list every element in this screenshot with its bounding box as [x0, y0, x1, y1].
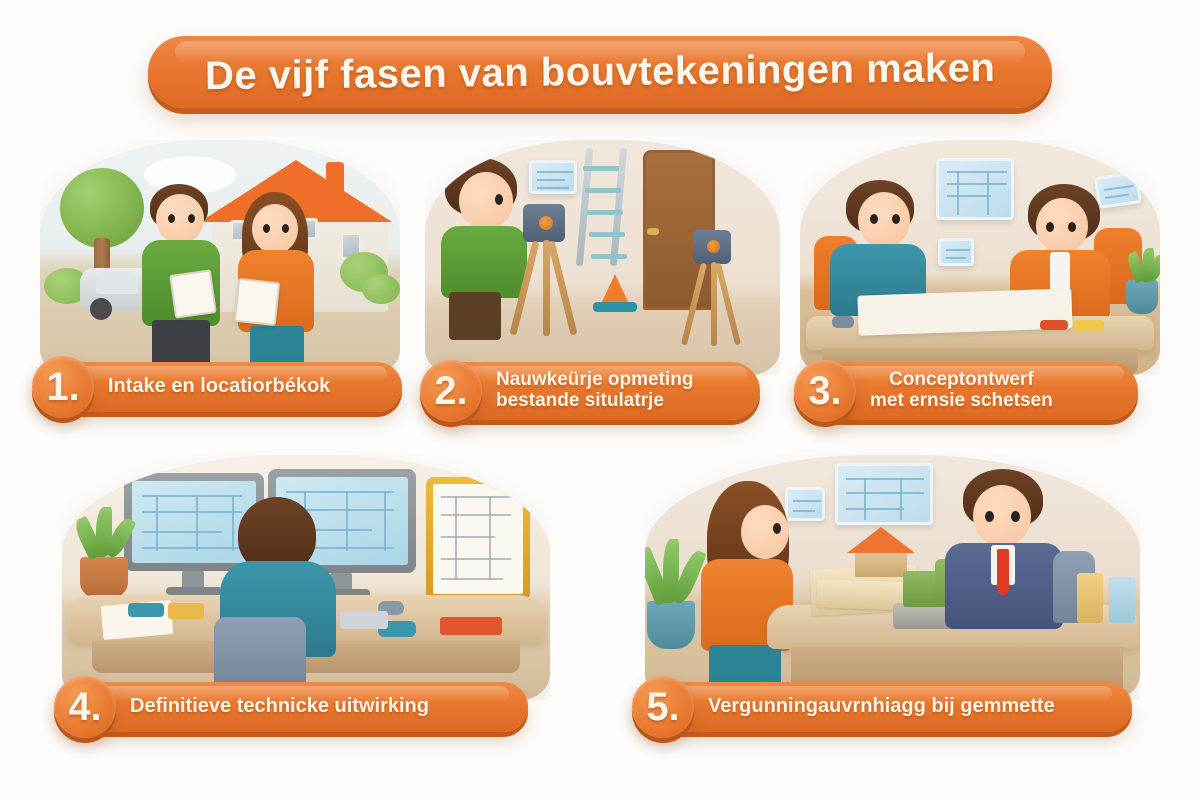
theodolite-lens-main	[539, 216, 553, 230]
step-caption-text-2-line1: Nauwkeürje opmeting	[496, 370, 693, 391]
person-2-eye-right	[282, 224, 289, 233]
desk-item-marker	[1040, 320, 1068, 330]
step-number-badge-3: 3.	[794, 360, 856, 422]
monitor-left-base	[166, 587, 222, 595]
tree-crown	[60, 168, 144, 248]
surveyor-legs	[449, 292, 501, 340]
scene-concept-design	[800, 140, 1160, 375]
step-number-2: 2.	[434, 371, 467, 411]
wall-blueprint	[529, 160, 577, 194]
plant-pot	[1126, 280, 1158, 314]
infographic-page: De vijf fasen van bouvtekeningen maken	[0, 0, 1200, 800]
desk-tool-notepad	[168, 603, 204, 619]
plant-pot-terracotta	[80, 557, 128, 599]
applicant-head	[741, 505, 789, 559]
office-chair	[214, 617, 306, 691]
cone-base	[593, 302, 637, 312]
monitor-left-screen	[132, 481, 256, 563]
designer-2-eye-right	[1068, 222, 1076, 232]
desk-item-ruler	[1074, 320, 1104, 332]
door-handle	[647, 228, 659, 235]
step-caption-2: 2. Nauwkeürje opmeting bestande situlatr…	[424, 362, 760, 420]
step-caption-1: 1. Intake en locatiorbékok	[36, 362, 402, 412]
desk-keyboard	[340, 611, 388, 629]
drafting-board-paper	[433, 484, 523, 594]
step-number-badge-5: 5.	[632, 676, 694, 738]
permit-wall-blueprint-large	[835, 463, 933, 525]
step-caption-text-4: Definitieve technicke uitwirking	[130, 696, 429, 718]
step-caption-3: 3. Conceptontwerf met ernsie schetsen	[798, 362, 1138, 420]
official-eye-left	[985, 511, 994, 522]
title-banner: De vijf fasen van bouvtekeningen maken	[148, 36, 1052, 108]
step-caption-text-2-line2: bestande situlatrje	[496, 391, 693, 412]
car-windshield	[96, 272, 138, 294]
person-2-head	[252, 204, 298, 254]
official-eye-right	[1011, 511, 1020, 522]
ladder-rung-3	[587, 210, 623, 215]
page-title: De vijf fasen van bouvtekeningen maken	[205, 45, 996, 98]
desk-tool-box	[440, 617, 502, 635]
surveyor-head	[459, 172, 513, 230]
chimney	[326, 162, 344, 196]
marker-cone	[601, 274, 629, 304]
step-number-badge-4: 4.	[54, 676, 116, 738]
tripod-second-leg-2	[711, 262, 717, 346]
step-panel-5	[645, 455, 1140, 700]
applicant-eye	[773, 523, 781, 534]
scene-permit-application	[645, 455, 1140, 700]
permit-plant-pot	[647, 601, 695, 649]
bush-right-2	[362, 274, 400, 304]
house-model-roof	[847, 527, 915, 553]
official-head	[973, 485, 1031, 547]
step-caption-text-3-line1: Conceptontwerf	[870, 370, 1053, 391]
step-number-badge-2: 2.	[420, 360, 482, 422]
tripod-main-leg-2	[543, 240, 550, 336]
terrain-model-mass-1	[903, 571, 939, 607]
ladder-rung-5	[591, 254, 627, 259]
step-caption-text-3-line2: met ernsie schetsen	[870, 391, 1053, 412]
wall-blueprint-large	[936, 158, 1014, 220]
step-number-5: 5.	[646, 687, 679, 727]
permit-wall-blueprint-small	[785, 487, 825, 521]
ladder-rung-4	[589, 232, 625, 237]
wall-blueprint-corner	[1094, 171, 1142, 209]
designer-1-head	[858, 192, 910, 248]
ladder-rung-2	[585, 188, 621, 193]
person-1-head	[156, 194, 204, 244]
step-caption-5: 5. Vergunningauvrnhiagg bij gemmette	[636, 682, 1132, 732]
surveyor-torso	[441, 226, 527, 298]
designer-1-eye-left	[870, 214, 878, 224]
counter-item-box-1	[1077, 573, 1103, 623]
scene-intake-location	[40, 140, 400, 375]
step-number-1: 1.	[46, 367, 79, 407]
scene-precise-measurement	[425, 140, 780, 375]
counter-item-box-2	[1109, 577, 1135, 623]
designer-2-eye-left	[1046, 222, 1054, 232]
step-panel-2	[425, 140, 780, 375]
step-number-3: 3.	[808, 371, 841, 411]
car-wheel-front	[90, 298, 112, 320]
step-panel-1	[40, 140, 400, 375]
desk-item-puck	[832, 316, 854, 328]
designer-2-head	[1036, 198, 1088, 254]
step-panel-4	[62, 455, 550, 700]
ladder-rung-1	[583, 166, 619, 171]
designer-1-eye-right	[892, 214, 900, 224]
step-number-4: 4.	[68, 687, 101, 727]
official-tie	[997, 549, 1009, 595]
theodolite-lens-second	[707, 240, 720, 253]
person-1-eye-right	[188, 214, 195, 223]
step-caption-text-1: Intake en locatiorbékok	[108, 376, 330, 398]
wall-blueprint-small	[938, 238, 974, 266]
step-number-badge-1: 1.	[32, 356, 94, 418]
person-1-clipboard	[169, 269, 217, 318]
person-2-clipboard	[234, 278, 280, 326]
step-caption-text-5: Vergunningauvrnhiagg bij gemmette	[708, 696, 1055, 718]
drafting-board	[426, 477, 530, 601]
step-panel-3	[800, 140, 1160, 375]
person-1-eye-left	[168, 214, 175, 223]
person-2-eye-left	[263, 224, 270, 233]
house-model-body	[855, 553, 907, 577]
scene-technical-elaboration	[62, 455, 550, 700]
step-caption-4: 4. Definitieve technicke uitwirking	[58, 682, 528, 732]
surveyor-eye	[495, 194, 503, 205]
desk-tool-stapler	[128, 603, 164, 617]
